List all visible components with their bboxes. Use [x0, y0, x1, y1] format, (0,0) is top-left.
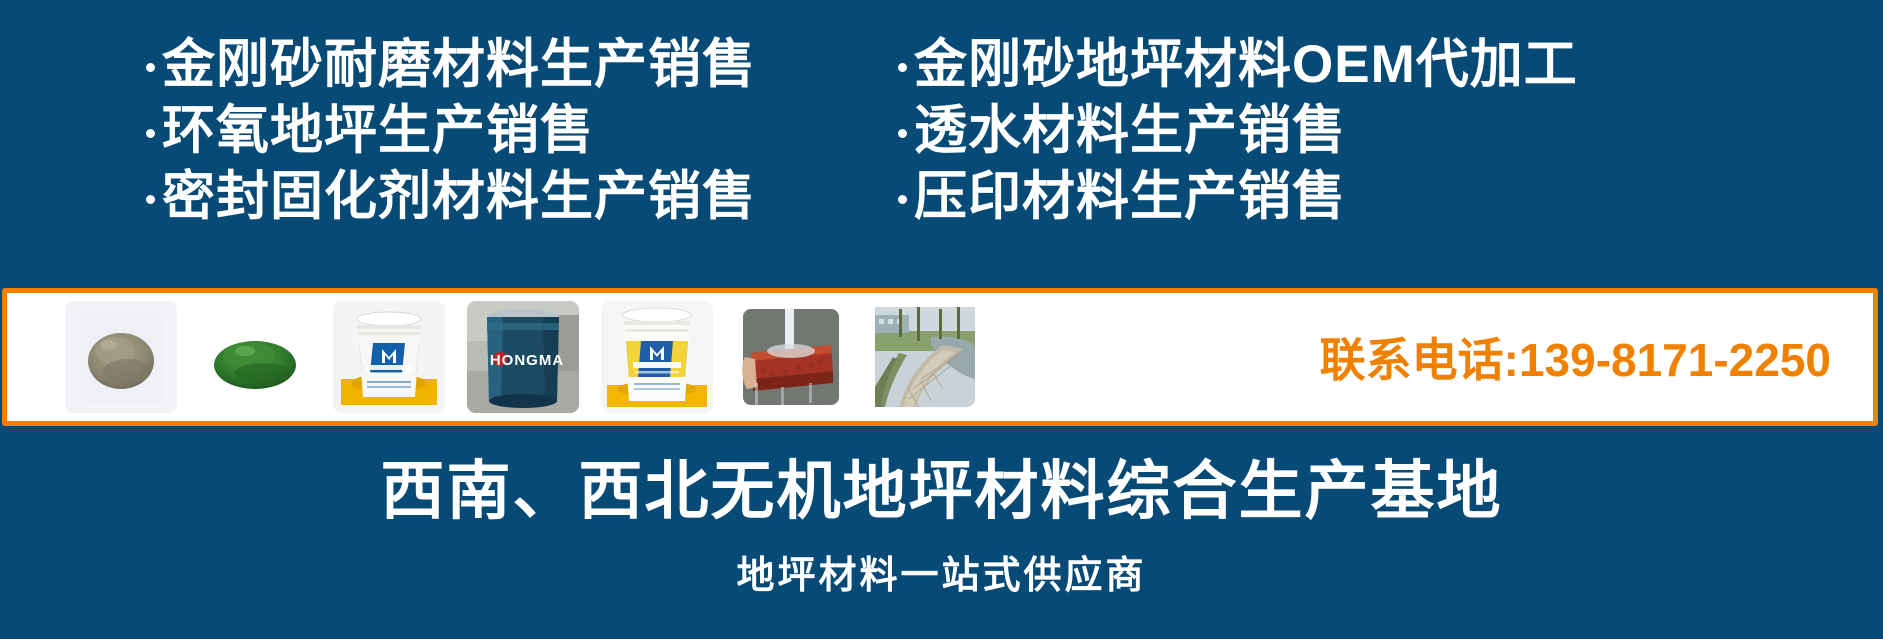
product-thumb-hongma-blue-drum: HONGMA	[467, 301, 579, 413]
product-thumb-concrete-sealer-bucket	[333, 301, 445, 413]
hongma-drum-icon: HONGMA	[467, 301, 579, 413]
epoxy-bucket-icon	[601, 301, 713, 413]
service-item: 金刚砂地坪材料OEM代加工	[898, 32, 1883, 98]
product-thumb-permeable-concrete-sample	[735, 301, 847, 413]
service-item: 环氧地坪生产销售	[146, 98, 880, 164]
page-subtitle: 地坪材料一站式供应商	[0, 552, 1883, 600]
product-thumb-emery-wear-resistant-powder	[65, 301, 177, 413]
service-item: 金刚砂耐磨材料生产销售	[146, 32, 880, 98]
service-item-label: 密封固化剂材料生产销售	[162, 164, 756, 230]
product-thumbnail-list: HONGMA	[7, 301, 981, 413]
service-item-label: 金刚砂地坪材料OEM代加工	[914, 32, 1578, 98]
bullet-dot-icon	[146, 195, 155, 204]
service-item: 透水材料生产销售	[898, 98, 1883, 164]
service-item-label: 金刚砂耐磨材料生产销售	[162, 32, 756, 98]
promo-banner: 金刚砂耐磨材料生产销售 环氧地坪生产销售 密封固化剂材料生产销售 金刚砂地坪材料…	[0, 0, 1883, 639]
service-item-label: 环氧地坪生产销售	[162, 98, 594, 164]
page-title: 西南、西北无机地坪材料综合生产基地	[0, 452, 1883, 530]
service-item-label: 透水材料生产销售	[914, 98, 1346, 164]
product-thumb-green-emery-powder	[199, 301, 311, 413]
green-powder-icon	[199, 301, 311, 413]
product-thumb-stamped-concrete-path	[869, 301, 981, 413]
bullet-dot-icon	[146, 63, 155, 72]
service-item: 密封固化剂材料生产销售	[146, 164, 880, 230]
contact-phone[interactable]: 联系电话:139-8171-2250	[1320, 324, 1873, 390]
bullet-dot-icon	[146, 129, 155, 138]
stamped-path-icon	[869, 301, 981, 413]
permeable-concrete-icon	[735, 301, 847, 413]
services-list: 金刚砂耐磨材料生产销售 环氧地坪生产销售 密封固化剂材料生产销售 金刚砂地坪材料…	[0, 32, 1883, 272]
bullet-dot-icon	[898, 63, 907, 72]
bullet-dot-icon	[898, 129, 907, 138]
bullet-dot-icon	[898, 195, 907, 204]
product-strip: HONGMA	[2, 288, 1878, 426]
service-item-label: 压印材料生产销售	[914, 164, 1346, 230]
product-thumb-epoxy-floor-coating-bucket	[601, 301, 713, 413]
svg-text:HONGMA: HONGMA	[490, 352, 564, 369]
emery-powder-icon	[65, 301, 177, 413]
service-item: 压印材料生产销售	[898, 164, 1883, 230]
services-left-column: 金刚砂耐磨材料生产销售 环氧地坪生产销售 密封固化剂材料生产销售	[0, 32, 880, 230]
sealer-bucket-icon	[333, 301, 445, 413]
services-right-column: 金刚砂地坪材料OEM代加工 透水材料生产销售 压印材料生产销售	[880, 32, 1883, 230]
